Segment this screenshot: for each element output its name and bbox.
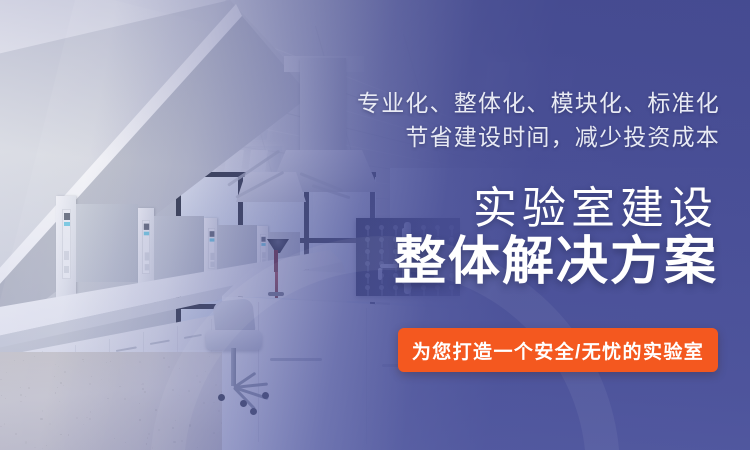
tagline-line-2: 节省建设时间，减少投资成本 [357, 120, 720, 154]
cta-button[interactable]: 为您打造一个安全/无忧的实验室 [398, 328, 718, 372]
headline-bold: 整体解决方案 [394, 232, 718, 292]
lab-solution-banner: 专业化、整体化、模块化、标准化 节省建设时间，减少投资成本 实验室建设 整体解决… [0, 0, 750, 450]
tagline-block: 专业化、整体化、模块化、标准化 节省建设时间，减少投资成本 [357, 86, 720, 154]
headline-light: 实验室建设 [473, 185, 718, 233]
banner-content: 专业化、整体化、模块化、标准化 节省建设时间，减少投资成本 实验室建设 整体解决… [0, 0, 750, 450]
tagline-line-1: 专业化、整体化、模块化、标准化 [357, 86, 720, 120]
